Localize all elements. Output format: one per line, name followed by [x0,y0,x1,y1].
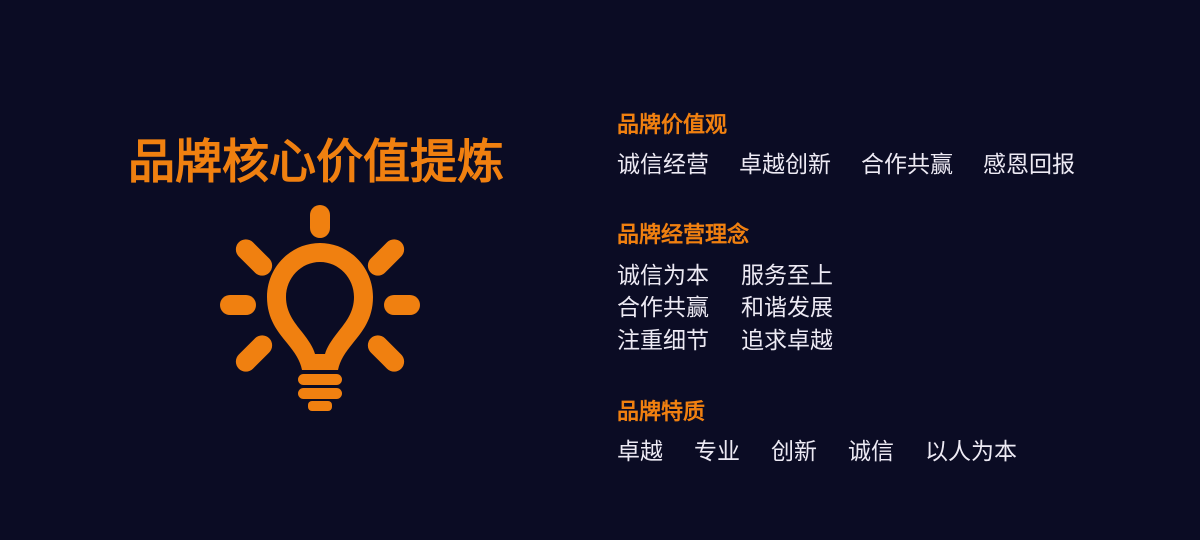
section-header-brand-philosophy: 品牌经营理念 [617,221,833,249]
section-brand-values: 品牌价值观 诚信经营 卓越创新 合作共赢 感恩回报 [617,111,1075,180]
list-item: 感恩回报 [983,149,1075,180]
list-item: 卓越创新 [739,149,831,180]
brand-values-list: 诚信经营 卓越创新 合作共赢 感恩回报 [617,149,1075,180]
list-item: 合作共赢 [617,291,709,324]
brand-traits-list: 卓越 专业 创新 诚信 以人为本 [617,436,1017,467]
list-item: 专业 [694,436,740,467]
list-item: 诚信为本 [617,259,709,292]
section-header-brand-values: 品牌价值观 [617,111,1075,139]
right-panel: 品牌价值观 诚信经营 卓越创新 合作共赢 感恩回报 品牌经营理念 诚信为本 服务… [617,0,1177,540]
brand-philosophy-list: 诚信为本 服务至上 合作共赢 和谐发展 注重细节 追求卓越 [617,259,833,358]
section-brand-traits: 品牌特质 卓越 专业 创新 诚信 以人为本 [617,398,1017,467]
list-item: 以人为本 [925,436,1017,467]
list-item: 和谐发展 [741,291,833,324]
left-panel: 品牌核心价值提炼 [0,0,600,540]
list-item: 创新 [771,436,817,467]
list-item: 服务至上 [741,259,833,292]
section-brand-philosophy: 品牌经营理念 诚信为本 服务至上 合作共赢 和谐发展 注重细节 追求卓越 [617,221,833,357]
section-header-brand-traits: 品牌特质 [617,398,1017,426]
list-item: 诚信经营 [617,149,709,180]
list-item: 追求卓越 [741,324,833,357]
list-item: 卓越 [617,436,663,467]
list-item: 诚信 [848,436,894,467]
list-item: 注重细节 [617,324,709,357]
lightbulb-icon [215,196,425,416]
list-item: 合作共赢 [861,149,953,180]
slide-canvas: 品牌核心价值提炼 [0,0,1200,540]
page-title: 品牌核心价值提炼 [128,137,504,186]
